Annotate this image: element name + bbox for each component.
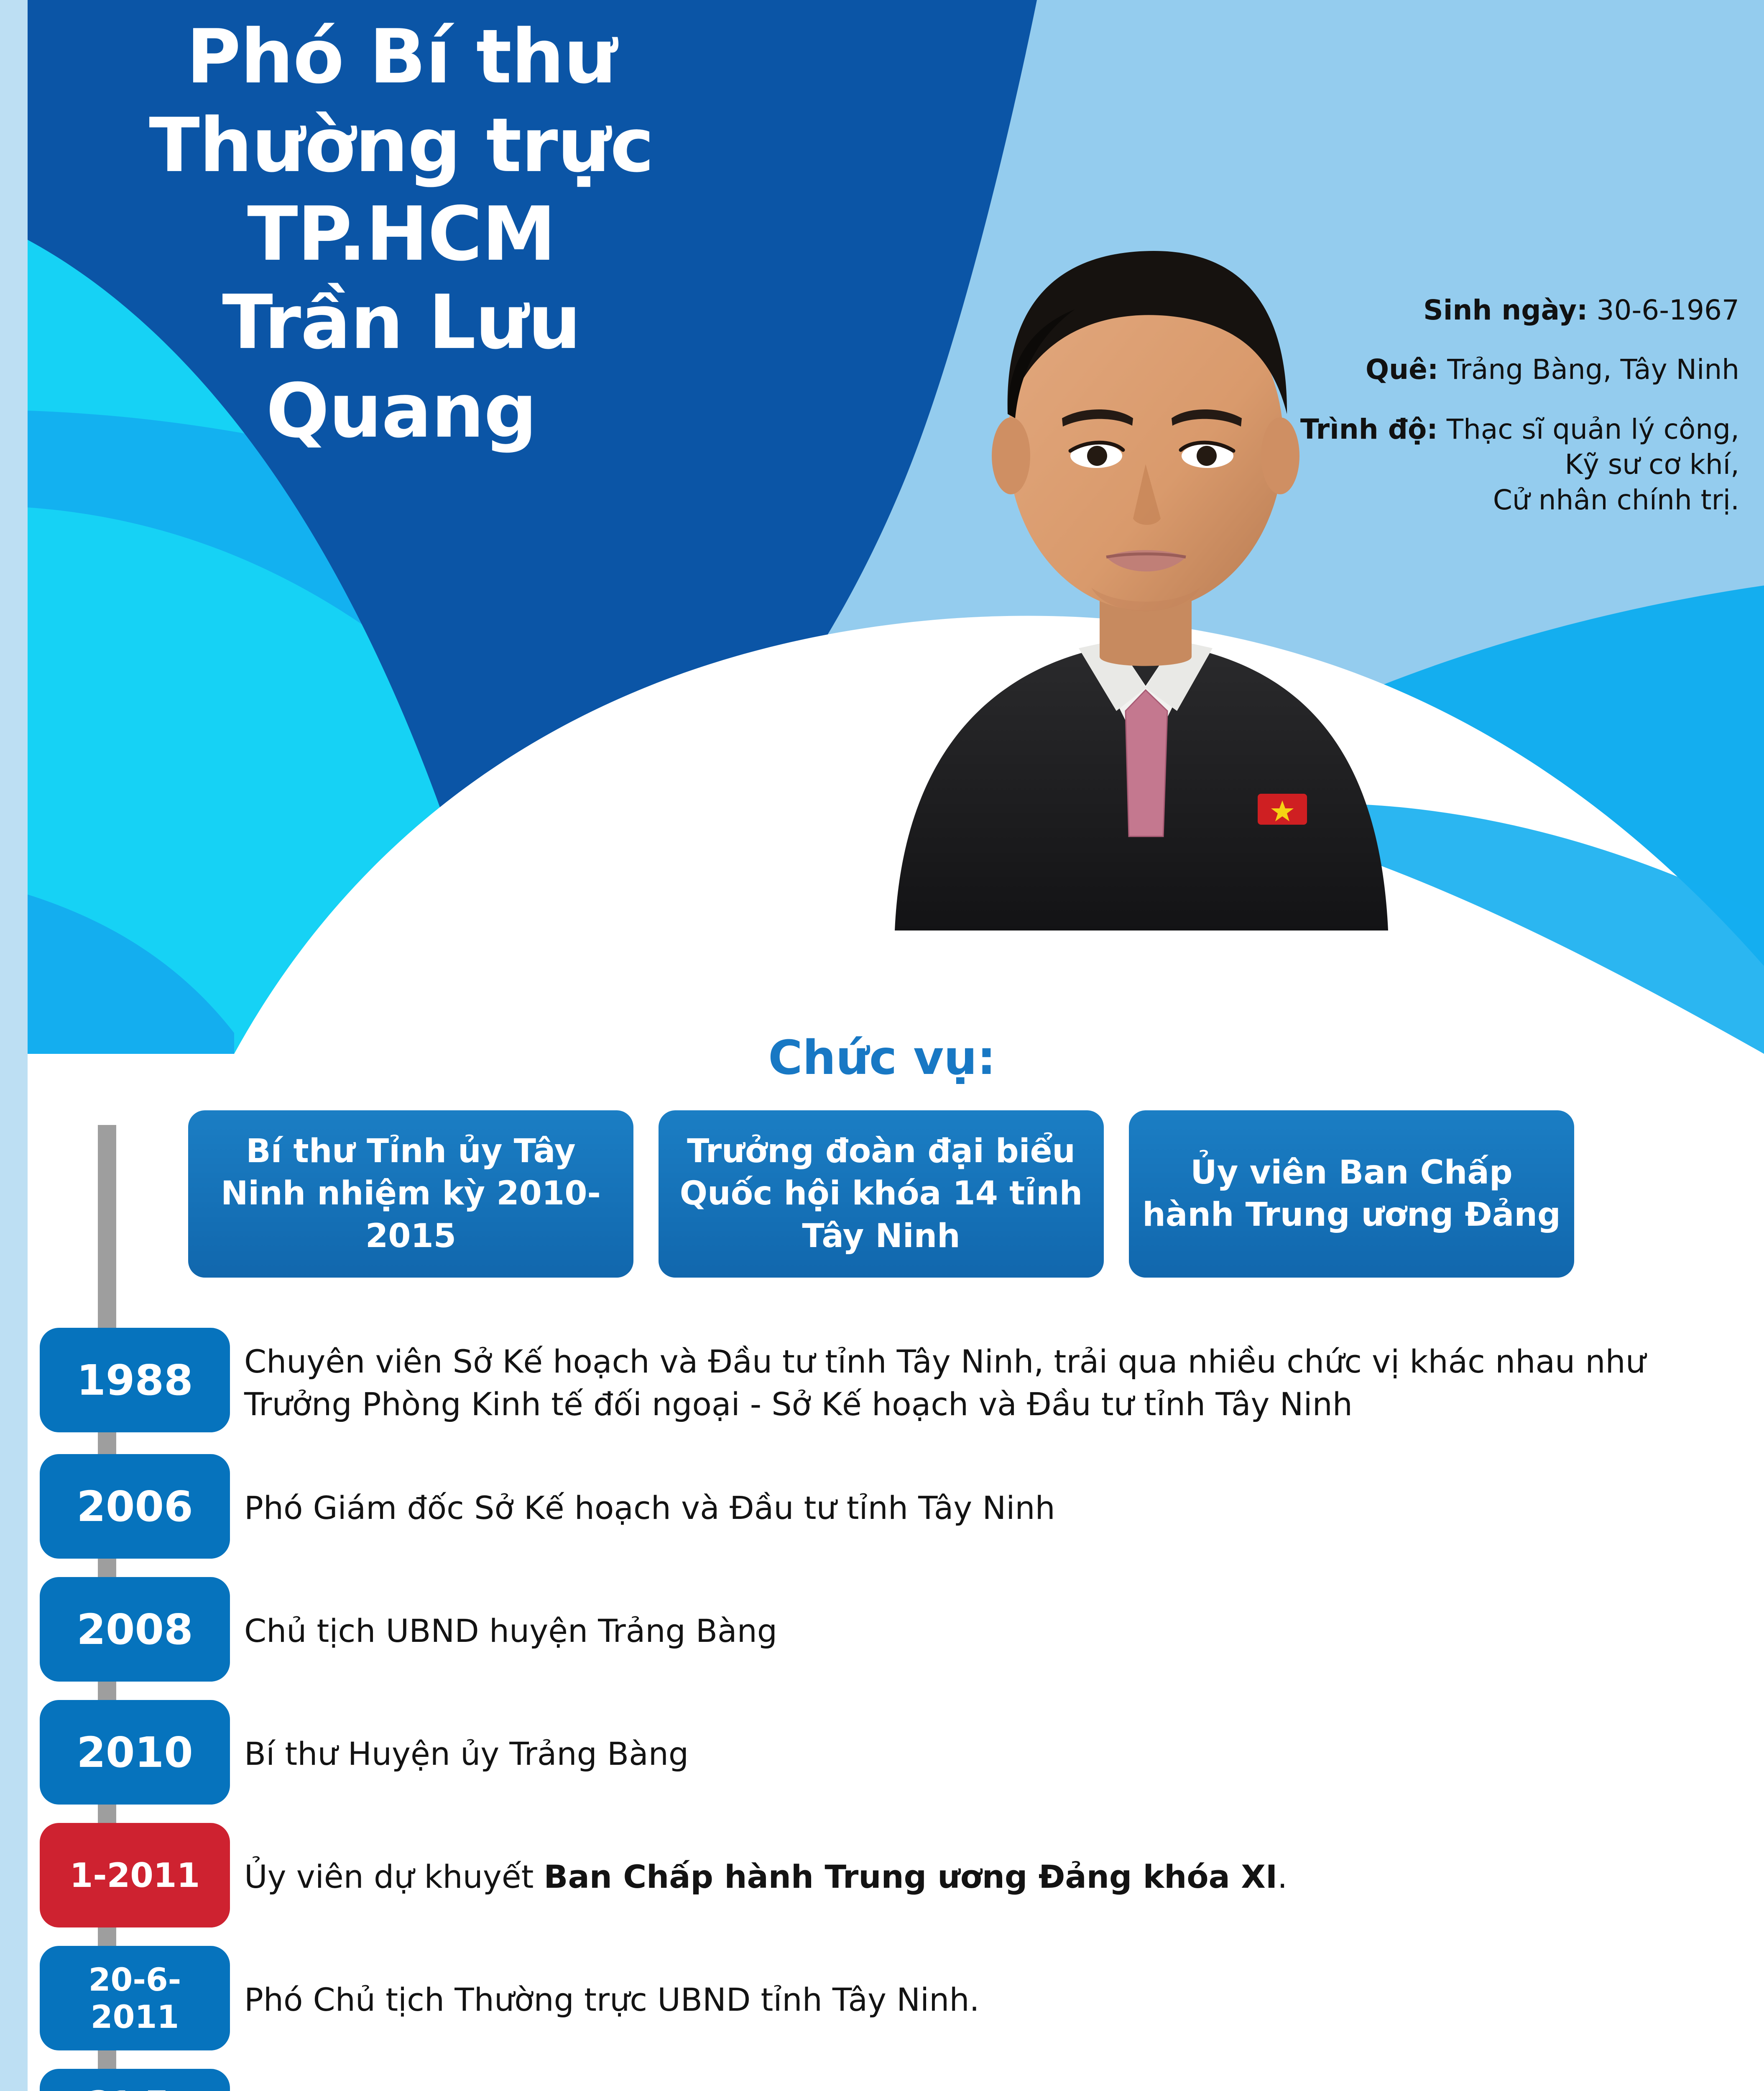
bio-education-line2: Kỹ sư cơ khí, (1204, 447, 1739, 482)
timeline-description: Bí thư Tỉnh ủy Tây Ninh nhiệm kỳ 2010-20… (230, 2069, 1764, 2091)
position-box-1[interactable]: Bí thư Tỉnh ủy Tây Ninh nhiệm kỳ 2010-20… (188, 1110, 633, 1278)
title-line-4: Trần Lưu Quang (75, 278, 728, 455)
bio-hometown-label: Quê: (1366, 353, 1438, 386)
page-title: Phó Bí thư Thường trực TP.HCM Trần Lưu Q… (75, 13, 728, 455)
bio-education-line3: Cử nhân chính trị. (1204, 483, 1739, 518)
timeline-list: 1988Chuyên viên Sở Kế hoạch và Đầu tư tỉ… (0, 1328, 1764, 2091)
title-line-1: Phó Bí thư (75, 13, 728, 101)
timeline-description: Chuyên viên Sở Kế hoạch và Đầu tư tỉnh T… (230, 1328, 1764, 1426)
timeline-row: 2008Chủ tịch UBND huyện Trảng Bàng (0, 1577, 1764, 1682)
bio-birth-row: Sinh ngày: 30-6-1967 (1204, 293, 1739, 328)
position-box-3[interactable]: Ủy viên Ban Chấp hành Trung ương Đảng (1129, 1110, 1574, 1278)
bio-panel: Sinh ngày: 30-6-1967 Quê: Trảng Bàng, Tâ… (1204, 293, 1739, 542)
bio-education-label: Trình độ: (1300, 413, 1438, 445)
timeline-description: Ủy viên dự khuyết Ban Chấp hành Trung ươ… (230, 1823, 1764, 1898)
positions-box-group: Bí thư Tỉnh ủy Tây Ninh nhiệm kỳ 2010-20… (188, 1110, 1576, 1278)
positions-heading: Chức vụ: (0, 1031, 1764, 1085)
infographic-root: Phó Bí thư Thường trực TP.HCM Trần Lưu Q… (0, 0, 1764, 2091)
position-box-2[interactable]: Trưởng đoàn đại biểu Quốc hội khóa 14 tỉ… (659, 1110, 1104, 1278)
timeline-row: 1-2011Ủy viên dự khuyết Ban Chấp hành Tr… (0, 1823, 1764, 1927)
timeline-row: 20-6-2011Phó Chủ tịch Thường trực UBND t… (0, 1946, 1764, 2050)
timeline-description: Chủ tịch UBND huyện Trảng Bàng (230, 1577, 1764, 1652)
timeline-row: 1988Chuyên viên Sở Kế hoạch và Đầu tư tỉ… (0, 1328, 1764, 1432)
timeline-row: 2010Bí thư Huyện ủy Trảng Bàng (0, 1700, 1764, 1805)
timeline-row: 2006Phó Giám đốc Sở Kế hoạch và Đầu tư t… (0, 1454, 1764, 1559)
timeline-date-badge[interactable]: 2006 (40, 1454, 230, 1559)
timeline-date-badge[interactable]: 1988 (40, 1328, 230, 1432)
bio-education-value: Thạc sĩ quản lý công, (1447, 413, 1739, 445)
title-line-3: TP.HCM (75, 190, 728, 279)
bio-birth-value: 30-6-1967 (1596, 294, 1739, 326)
timeline-description-emphasis: Ban Chấp hành Trung ương Đảng khóa XI (544, 1858, 1278, 1895)
timeline-description: Bí thư Huyện ủy Trảng Bàng (230, 1700, 1764, 1775)
timeline-row: 31-7-2015Bí thư Tỉnh ủy Tây Ninh nhiệm k… (0, 2069, 1764, 2091)
timeline-date-badge[interactable]: 2010 (40, 1700, 230, 1805)
bio-birth-label: Sinh ngày: (1423, 294, 1588, 326)
timeline-date-badge[interactable]: 1-2011 (40, 1823, 230, 1927)
bio-education-row: Trình độ: Thạc sĩ quản lý công, Kỹ sư cơ… (1204, 412, 1739, 518)
timeline-date-badge[interactable]: 31-7-2015 (40, 2069, 230, 2091)
timeline-date-badge[interactable]: 2008 (40, 1577, 230, 1682)
bio-hometown-value: Trảng Bàng, Tây Ninh (1447, 353, 1739, 386)
title-line-2: Thường trực (75, 101, 728, 190)
timeline-description: Phó Giám đốc Sở Kế hoạch và Đầu tư tỉnh … (230, 1454, 1764, 1529)
timeline-description: Phó Chủ tịch Thường trực UBND tỉnh Tây N… (230, 1946, 1764, 2021)
timeline-date-badge[interactable]: 20-6-2011 (40, 1946, 230, 2050)
bio-hometown-row: Quê: Trảng Bàng, Tây Ninh (1204, 352, 1739, 387)
